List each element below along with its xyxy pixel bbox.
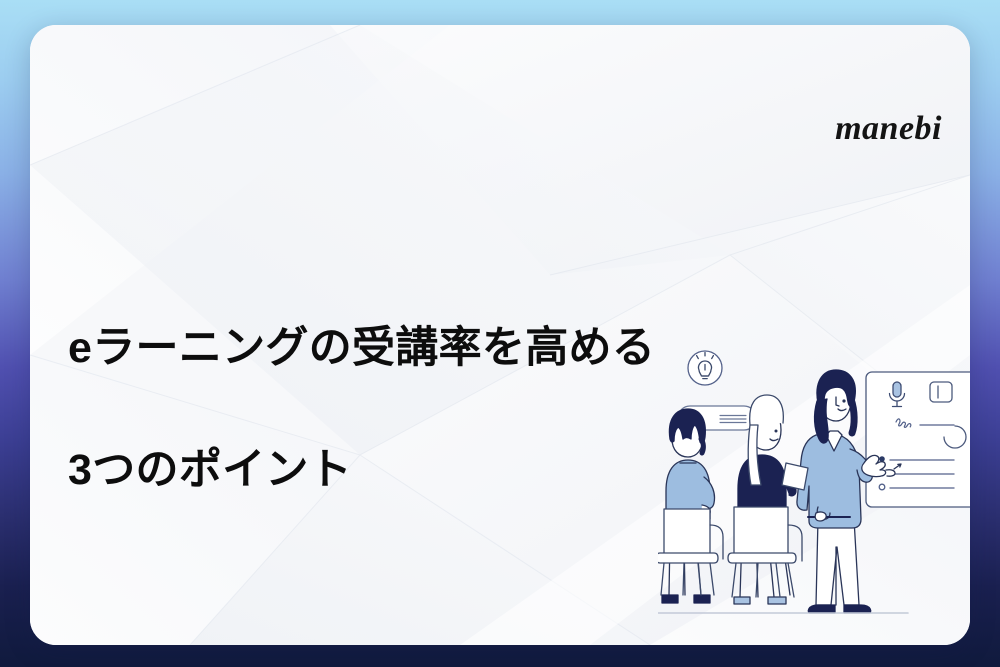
whiteboard-panel <box>866 372 970 507</box>
content-card: manebi eラーニングの受講率を高める 3つのポイント <box>30 25 970 645</box>
classroom-presentation-illustration <box>658 339 970 639</box>
seated-figure-left <box>658 409 723 603</box>
poster-canvas: manebi eラーニングの受講率を高める 3つのポイント <box>0 0 1000 667</box>
lightbulb-icon <box>688 351 722 385</box>
illustration-svg <box>658 339 970 639</box>
brand-logo: manebi <box>835 110 942 148</box>
